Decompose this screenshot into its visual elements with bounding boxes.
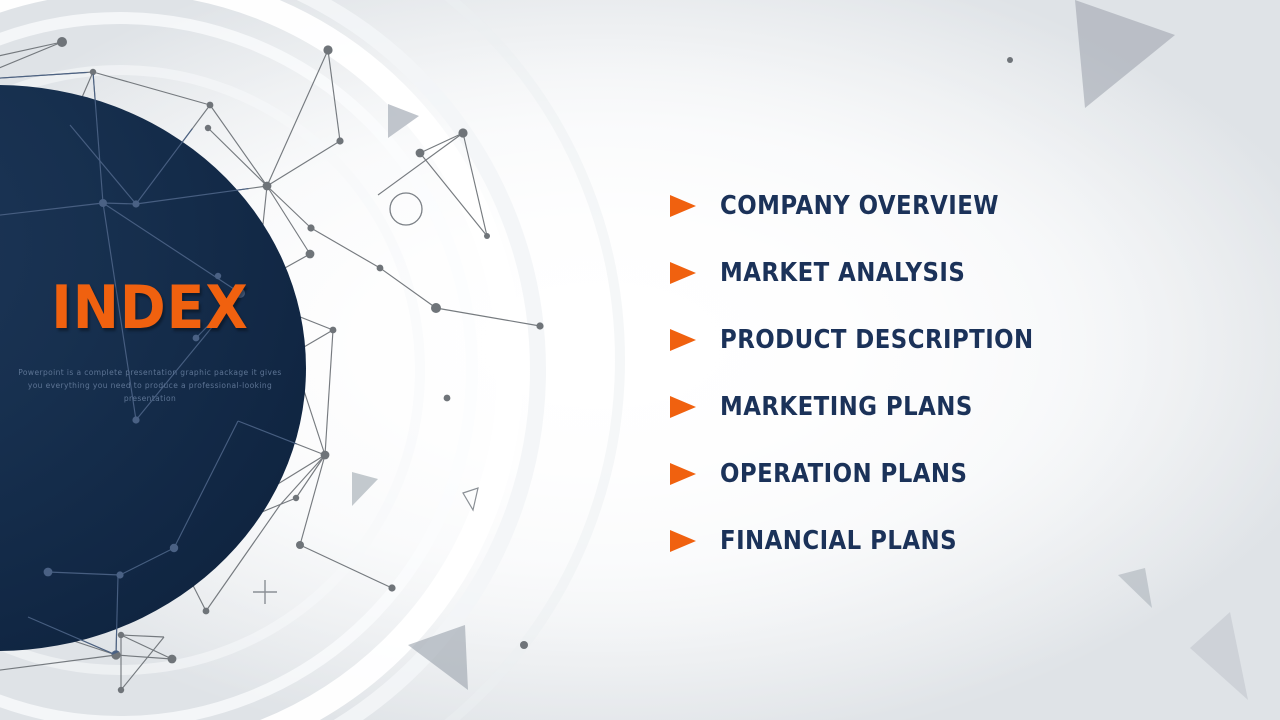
triangle-right-icon: [670, 462, 696, 486]
index-item-product-description[interactable]: PRODUCT DESCRIPTION: [670, 306, 1230, 373]
index-item-operation-plans[interactable]: OPERATION PLANS: [670, 440, 1230, 507]
index-item-label: OPERATION PLANS: [720, 459, 967, 489]
triangle-right-icon: [670, 395, 696, 419]
index-item-marketing-plans[interactable]: MARKETING PLANS: [670, 373, 1230, 440]
triangle-right-icon: [670, 261, 696, 285]
index-list: COMPANY OVERVIEW MARKET ANALYSIS PRODUCT…: [670, 172, 1230, 574]
index-item-label: COMPANY OVERVIEW: [720, 191, 999, 221]
index-item-company-overview[interactable]: COMPANY OVERVIEW: [670, 172, 1230, 239]
triangle-right-icon: [670, 328, 696, 352]
index-item-label: MARKETING PLANS: [720, 392, 973, 422]
index-item-label: FINANCIAL PLANS: [720, 526, 957, 556]
index-item-label: PRODUCT DESCRIPTION: [720, 325, 1034, 355]
page-subtitle: Powerpoint is a complete presentation gr…: [18, 366, 282, 405]
triangle-right-icon: [670, 529, 696, 553]
index-item-market-analysis[interactable]: MARKET ANALYSIS: [670, 239, 1230, 306]
title-block: INDEX Powerpoint is a complete presentat…: [0, 278, 300, 405]
page-title: INDEX: [12, 278, 288, 338]
triangle-right-icon: [670, 194, 696, 218]
index-item-financial-plans[interactable]: FINANCIAL PLANS: [670, 507, 1230, 574]
index-item-label: MARKET ANALYSIS: [720, 258, 965, 288]
presentation-slide: INDEX Powerpoint is a complete presentat…: [0, 0, 1280, 720]
